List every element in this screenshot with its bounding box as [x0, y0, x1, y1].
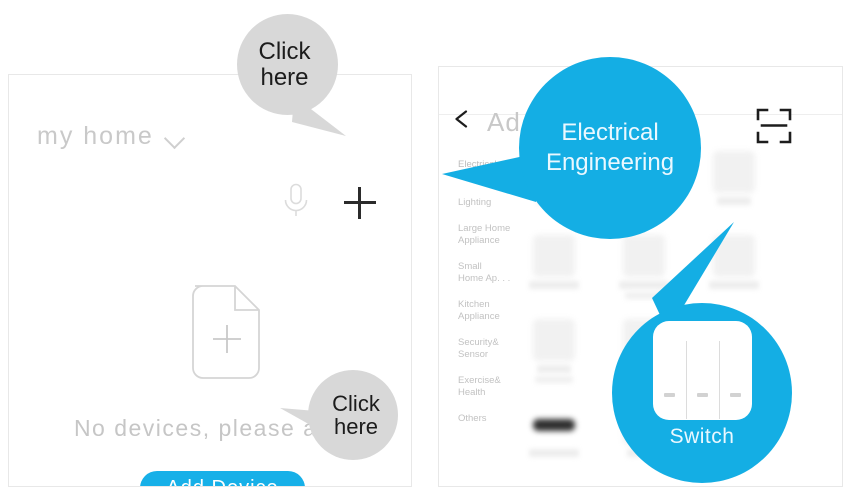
- add-device-button[interactable]: Add Device: [140, 471, 305, 487]
- chevron-left-icon[interactable]: [453, 110, 471, 128]
- add-plus-icon[interactable]: [344, 187, 376, 219]
- category-item-others[interactable]: Others: [439, 413, 517, 425]
- microphone-icon[interactable]: [281, 183, 311, 221]
- callout-line-1: Electrical: [546, 118, 674, 148]
- category-item-kitchen-appliance[interactable]: Kitchen Appliance: [439, 299, 517, 323]
- callout-line-2: here: [326, 415, 380, 438]
- page-title: Ad: [487, 107, 521, 138]
- callout-click-here-top: Click here: [237, 14, 338, 115]
- chevron-down-icon[interactable]: [164, 128, 185, 149]
- callout-line-2: Engineering: [546, 148, 674, 178]
- tutorial-stage: my home No devices, please add Add Devic…: [0, 0, 852, 497]
- category-item-security-sensor[interactable]: Security& Sensor: [439, 337, 517, 361]
- three-gang-switch-icon: [653, 321, 752, 420]
- home-name-label[interactable]: my home: [37, 111, 154, 161]
- callout-line-1: Click: [326, 392, 380, 415]
- callout-line-1: Click: [259, 39, 317, 64]
- document-plus-icon: [187, 283, 267, 379]
- callout-click-here-bottom: Click here: [308, 370, 398, 460]
- callout-electrical-engineering: Electrical Engineering: [519, 57, 701, 239]
- category-item-small-home-appliance[interactable]: Small Home Ap. . .: [439, 261, 517, 285]
- callout-line-2: here: [259, 65, 317, 90]
- category-item-exercise-health[interactable]: Exercise& Health: [439, 375, 517, 399]
- category-item-large-home-appliance[interactable]: Large Home Appliance: [439, 223, 517, 247]
- callout-switch-label: Switch: [612, 425, 792, 449]
- callout-switch: Switch: [612, 303, 792, 483]
- scan-qr-icon[interactable]: [755, 107, 793, 145]
